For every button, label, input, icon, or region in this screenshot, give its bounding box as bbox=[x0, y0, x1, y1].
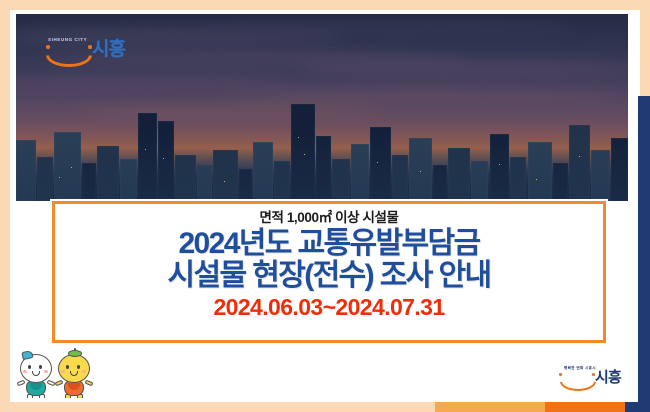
strip-segment-orange bbox=[545, 402, 625, 412]
mascot-arm-right bbox=[85, 380, 94, 387]
cloud-band bbox=[200, 21, 579, 36]
mascot-cheek-right bbox=[82, 370, 86, 373]
eyebrow-unit: ㎡ bbox=[319, 210, 332, 225]
siheung-logo-bottom-right: 행복한 변화 시흥시 시흥 bbox=[558, 366, 628, 396]
smile-arc-icon bbox=[46, 43, 92, 67]
city-skyline-photo: SIHEUNG CITY 시흥 bbox=[16, 13, 628, 201]
strip-segment-navy bbox=[625, 402, 650, 412]
mascot-arm-left bbox=[55, 380, 64, 387]
building-skyline bbox=[16, 96, 628, 201]
mascot-arm-left bbox=[17, 380, 26, 387]
survey-period-dates: 2024.06.03~2024.07.31 bbox=[213, 295, 444, 320]
mascot-white-baby bbox=[16, 350, 56, 402]
mascot-cheek-left bbox=[61, 370, 65, 373]
strip-segment-light-orange bbox=[435, 402, 545, 412]
mascot-cheek-left bbox=[23, 370, 27, 373]
mascot-leaf-icon bbox=[68, 350, 82, 357]
eyebrow-prefix: 면적 1,000 bbox=[259, 210, 318, 225]
logo-slogan-text: SIHEUNG CITY bbox=[48, 37, 87, 42]
mascot-group bbox=[14, 348, 110, 402]
eyebrow-text: 면적 1,000㎡ 이상 시설물 bbox=[259, 211, 398, 226]
smile-arc-icon bbox=[560, 372, 596, 391]
bottom-color-strip bbox=[0, 402, 650, 412]
siheung-logo-top-left: SIHEUNG CITY 시흥 bbox=[46, 37, 136, 73]
smile-dot-left-icon bbox=[46, 45, 50, 49]
logo-wordmark: 시흥 bbox=[92, 40, 125, 59]
headline-line-2: 시설물 현장(전수) 조사 안내 bbox=[168, 259, 491, 293]
smile-dot-left-icon bbox=[559, 373, 562, 376]
notice-poster: SIHEUNG CITY 시흥 면적 1,000㎡ 이상 시설물 2024년도 … bbox=[0, 0, 650, 412]
strip-segment-peach bbox=[0, 402, 435, 412]
eyebrow-suffix: 이상 시설물 bbox=[332, 210, 399, 225]
headline-line-1: 2024년도 교통유발부담금 bbox=[178, 227, 479, 261]
logo-slogan-text: 행복한 변화 시흥시 bbox=[564, 366, 596, 371]
mascot-yellow-fruit bbox=[54, 350, 94, 402]
mascot-cheek-right bbox=[44, 370, 48, 373]
mascot-head bbox=[58, 354, 90, 383]
navy-accent-bar bbox=[638, 96, 650, 404]
logo-wordmark: 시흥 bbox=[595, 370, 621, 385]
message-panel: 면적 1,000㎡ 이상 시설물 2024년도 교통유발부담금 시설물 현장(전… bbox=[52, 201, 606, 343]
cloud-band bbox=[298, 62, 628, 75]
